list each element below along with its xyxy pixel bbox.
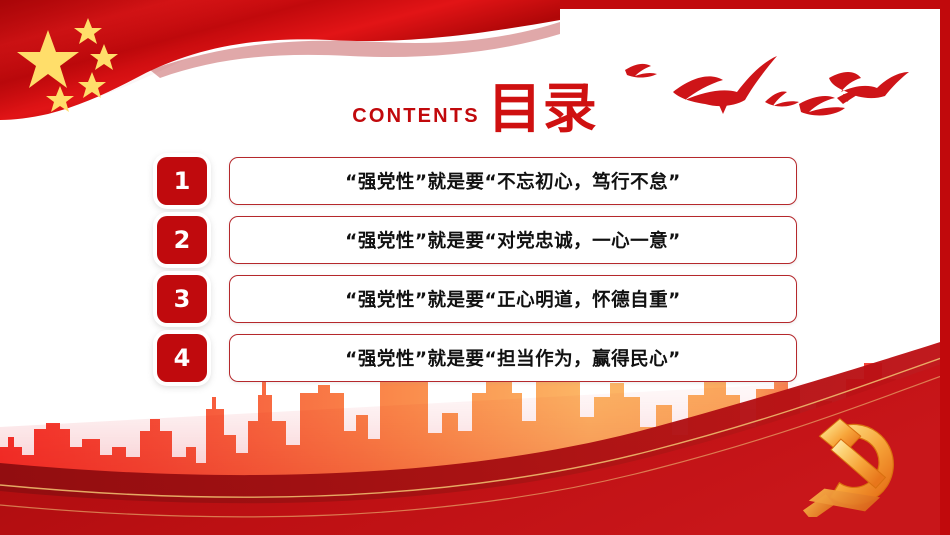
slide-canvas: CONTENTS 目录 1 “强党性”就是要“不忘初心，笃行不怠” 2 “强党性… [0,0,950,535]
cpc-emblem-icon [778,397,928,517]
item-number-badge: 2 [157,216,207,264]
item-text: “强党性”就是要“对党忠诚，一心一意” [345,227,681,253]
list-item[interactable]: 1 “强党性”就是要“不忘初心，笃行不怠” [157,157,797,205]
item-text: “强党性”就是要“正心明道，怀德自重” [345,286,681,312]
list-item[interactable]: 3 “强党性”就是要“正心明道，怀德自重” [157,275,797,323]
page-title: CONTENTS 目录 [0,78,950,140]
item-text-box[interactable]: “强党性”就是要“对党忠诚，一心一意” [229,216,797,264]
title-contents-en: CONTENTS [352,106,480,126]
item-number-badge: 1 [157,157,207,205]
item-number: 4 [174,346,191,370]
item-text-box[interactable]: “强党性”就是要“不忘初心，笃行不怠” [229,157,797,205]
list-item[interactable]: 2 “强党性”就是要“对党忠诚，一心一意” [157,216,797,264]
item-text-box[interactable]: “强党性”就是要“担当作为，赢得民心” [229,334,797,382]
item-text-box[interactable]: “强党性”就是要“正心明道，怀德自重” [229,275,797,323]
item-number-badge: 3 [157,275,207,323]
title-contents-cn: 目录 [488,82,598,136]
list-item[interactable]: 4 “强党性”就是要“担当作为，赢得民心” [157,334,797,382]
contents-list: 1 “强党性”就是要“不忘初心，笃行不怠” 2 “强党性”就是要“对党忠诚，一心… [157,157,797,393]
item-text: “强党性”就是要“不忘初心，笃行不怠” [345,168,681,194]
item-text: “强党性”就是要“担当作为，赢得民心” [345,345,681,371]
item-number-badge: 4 [157,334,207,382]
item-number: 1 [174,169,191,193]
item-number: 3 [174,287,191,311]
item-number: 2 [174,228,191,252]
